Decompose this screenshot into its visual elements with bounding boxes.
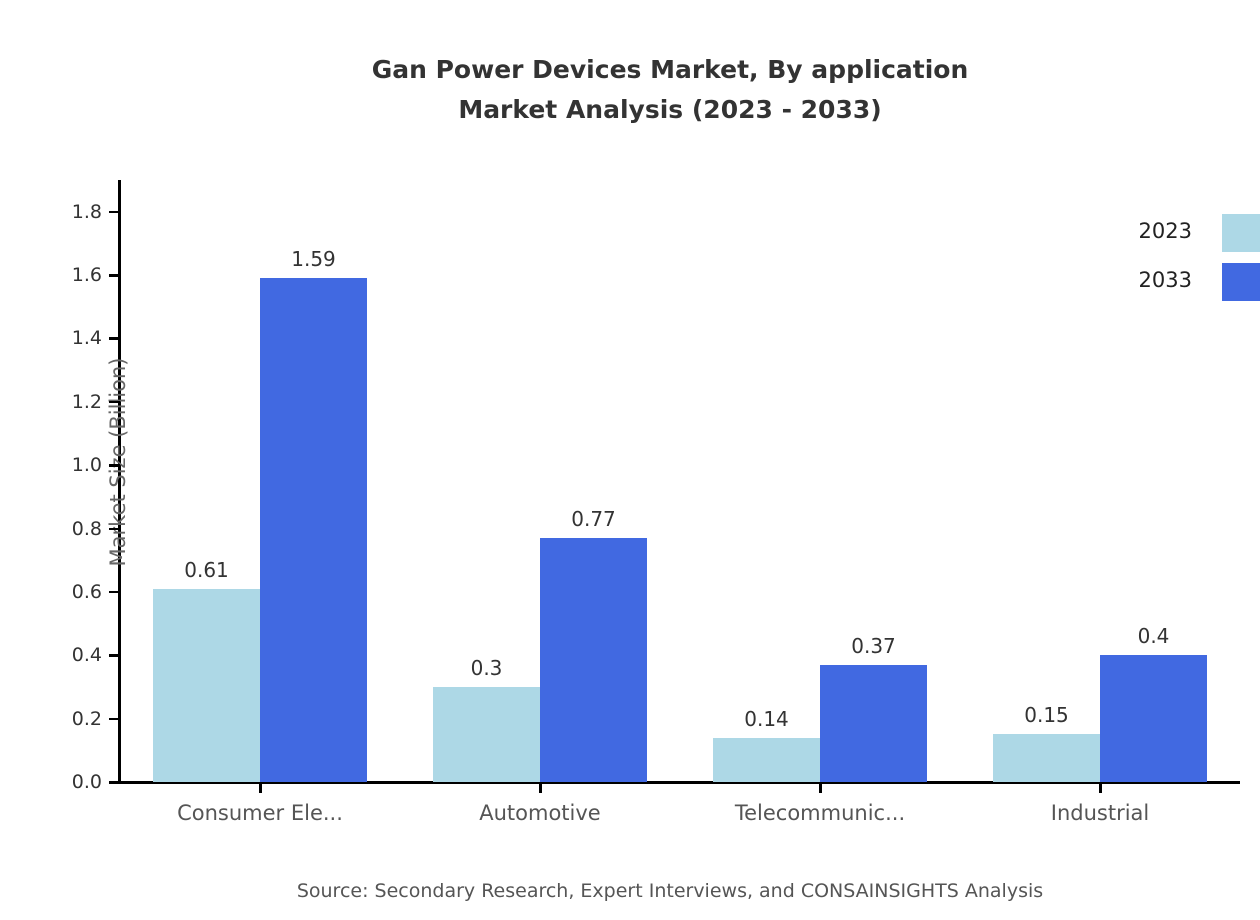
x-tick-mark <box>1099 782 1102 793</box>
bar-value-label: 0.37 <box>851 634 896 658</box>
bar-2033-0[interactable]: 1.59 <box>260 278 367 782</box>
bar-2023-2[interactable]: 0.14 <box>713 738 820 782</box>
y-tick-mark <box>109 528 120 531</box>
bar-value-label: 0.4 <box>1138 624 1170 648</box>
legend-label: 2033 <box>1139 266 1192 294</box>
legend-item-2033[interactable]: 2033 <box>1100 263 1260 312</box>
bar-value-label: 0.14 <box>744 707 789 731</box>
y-tick-label: 1.6 <box>60 262 102 288</box>
x-tick-mark <box>259 782 262 793</box>
y-tick-label: 1.2 <box>60 389 102 415</box>
legend-swatch <box>1222 214 1260 252</box>
legend-swatch <box>1222 263 1260 301</box>
x-tick-label: Automotive <box>400 798 680 828</box>
y-tick-mark <box>109 781 120 784</box>
bar-2033-2[interactable]: 0.37 <box>820 665 927 782</box>
chart-legend: 20232033 <box>1100 214 1260 312</box>
y-tick-label: 0.8 <box>60 516 102 542</box>
bar-value-label: 0.61 <box>184 558 229 582</box>
x-tick-mark <box>539 782 542 793</box>
y-tick-label: 1.4 <box>60 325 102 351</box>
y-tick-label: 0.6 <box>60 579 102 605</box>
bar-2033-1[interactable]: 0.77 <box>540 538 647 782</box>
y-tick-mark <box>109 337 120 340</box>
y-tick-mark <box>109 464 120 467</box>
y-tick-label: 0.4 <box>60 642 102 668</box>
x-tick-label: Telecommunic... <box>680 798 960 828</box>
chart-title: Gan Power Devices Market, By application… <box>0 50 1260 130</box>
bar-2023-3[interactable]: 0.15 <box>993 734 1100 782</box>
bar-value-label: 0.15 <box>1024 703 1069 727</box>
y-tick-label: 1.0 <box>60 452 102 478</box>
chart-container: Gan Power Devices Market, By application… <box>0 0 1260 920</box>
y-tick-mark <box>109 211 120 214</box>
y-tick-mark <box>109 401 120 404</box>
y-tick-label: 0.2 <box>60 706 102 732</box>
source-note: Source: Secondary Research, Expert Inter… <box>0 878 1260 904</box>
bar-2023-1[interactable]: 0.3 <box>433 687 540 782</box>
bar-value-label: 0.3 <box>471 656 503 680</box>
bar-2033-3[interactable]: 0.4 <box>1100 655 1207 782</box>
legend-item-2023[interactable]: 2023 <box>1100 214 1260 263</box>
y-tick-mark <box>109 591 120 594</box>
bar-2023-0[interactable]: 0.61 <box>153 589 260 782</box>
y-axis-title: Market Size (Billion) <box>106 12 130 912</box>
y-tick-mark <box>109 718 120 721</box>
x-tick-mark <box>819 782 822 793</box>
chart-title-line-1: Gan Power Devices Market, By application <box>0 50 1260 90</box>
y-tick-label: 0.0 <box>60 769 102 795</box>
y-tick-label: 1.8 <box>60 199 102 225</box>
plot-area: Market Size (Billion) 0.00.20.40.60.81.0… <box>120 180 1240 782</box>
bar-value-label: 1.59 <box>291 247 336 271</box>
legend-label: 2023 <box>1139 217 1192 245</box>
chart-title-line-2: Market Analysis (2023 - 2033) <box>0 90 1260 130</box>
bar-value-label: 0.77 <box>571 507 616 531</box>
y-tick-mark <box>109 654 120 657</box>
x-tick-label: Consumer Ele... <box>120 798 400 828</box>
y-tick-mark <box>109 274 120 277</box>
x-tick-label: Industrial <box>960 798 1240 828</box>
